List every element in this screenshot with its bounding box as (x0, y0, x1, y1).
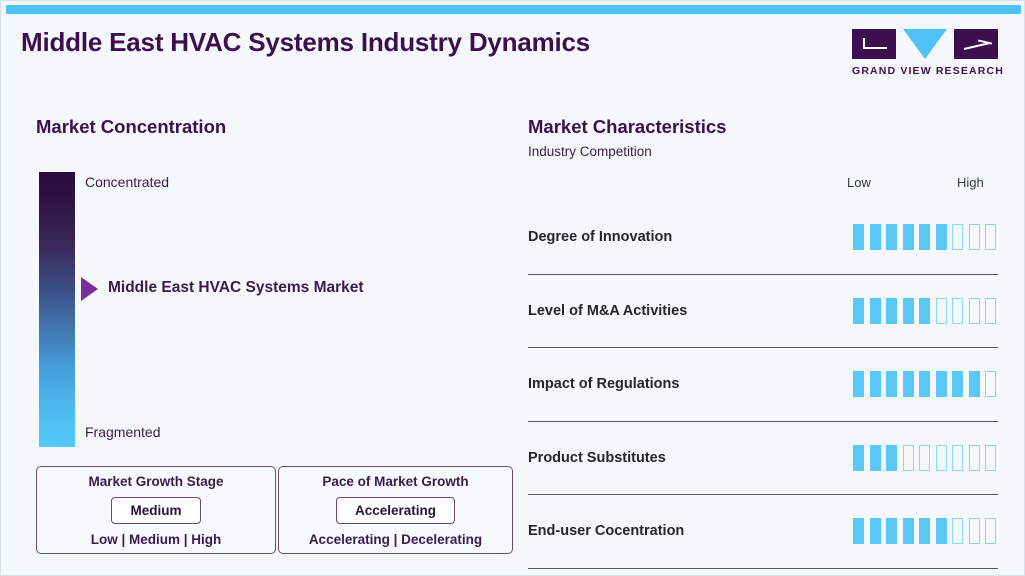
rating-bar-empty (952, 445, 963, 471)
concentration-bottom-label: Fragmented (85, 424, 160, 440)
rating-bar-filled (886, 371, 897, 397)
rating-bar-empty (919, 445, 930, 471)
scale-label-low: Low (847, 175, 871, 190)
characteristic-row: Degree of Innovation (528, 201, 998, 275)
rating-bar-empty (936, 298, 947, 324)
logo-g-icon (852, 29, 896, 59)
pace-of-market-growth-card: Pace of Market Growth Accelerating Accel… (278, 466, 513, 554)
characteristic-rating-bars (853, 298, 996, 324)
rating-bar-filled (853, 518, 864, 544)
logo-wordmark: GRAND VIEW RESEARCH (852, 65, 998, 77)
rating-bar-filled (886, 224, 897, 250)
rating-bar-empty (952, 224, 963, 250)
scale-label-high: High (957, 175, 984, 190)
pace-heading: Pace of Market Growth (322, 474, 468, 489)
characteristic-row: Product Substitutes (528, 422, 998, 496)
rating-bar-filled (886, 518, 897, 544)
characteristic-label: End-user Cocentration (528, 523, 684, 539)
rating-bar-filled (886, 298, 897, 324)
characteristic-row: Level of M&A Activities (528, 275, 998, 349)
characteristic-rating-bars (853, 518, 996, 544)
growth-stage-options: Low | Medium | High (91, 532, 222, 547)
growth-stage-value: Medium (111, 497, 200, 524)
rating-bar-filled (919, 224, 930, 250)
rating-bar-empty (985, 224, 996, 250)
top-accent-bar (6, 5, 1021, 14)
logo-r-icon (954, 29, 998, 59)
rating-bar-filled (903, 518, 914, 544)
characteristic-label: Level of M&A Activities (528, 303, 687, 319)
rating-bar-filled (870, 371, 881, 397)
logo-v-triangle-icon (903, 29, 947, 59)
characteristics-list: Degree of InnovationLevel of M&A Activit… (528, 201, 998, 569)
rating-bar-empty (985, 518, 996, 544)
rating-bar-filled (870, 298, 881, 324)
rating-bar-empty (969, 224, 980, 250)
market-growth-stage-card: Market Growth Stage Medium Low | Medium … (36, 466, 276, 554)
pace-options: Accelerating | Decelerating (309, 532, 482, 547)
rating-bar-filled (903, 371, 914, 397)
market-characteristics-subtitle: Industry Competition (528, 144, 652, 159)
rating-bar-empty (985, 298, 996, 324)
concentration-top-label: Concentrated (85, 174, 169, 190)
characteristic-row: End-user Cocentration (528, 495, 998, 569)
rating-bar-filled (903, 224, 914, 250)
characteristic-rating-bars (853, 224, 996, 250)
rating-bar-empty (952, 518, 963, 544)
rating-bar-filled (936, 224, 947, 250)
rating-bar-filled (936, 371, 947, 397)
rating-bar-empty (969, 445, 980, 471)
pace-value: Accelerating (336, 497, 455, 524)
rating-bar-filled (870, 224, 881, 250)
rating-bar-filled (919, 298, 930, 324)
rating-bar-filled (853, 371, 864, 397)
rating-bar-empty (969, 298, 980, 324)
rating-bar-empty (969, 518, 980, 544)
grand-view-research-logo: GRAND VIEW RESEARCH (852, 29, 998, 77)
rating-bar-empty (985, 371, 996, 397)
characteristic-label: Impact of Regulations (528, 376, 679, 392)
rating-bar-filled (886, 445, 897, 471)
market-position-label: Middle East HVAC Systems Market (108, 279, 364, 297)
rating-bar-filled (870, 518, 881, 544)
characteristic-row: Impact of Regulations (528, 348, 998, 422)
page-title: Middle East HVAC Systems Industry Dynami… (21, 27, 590, 58)
logo-marks (852, 29, 998, 59)
rating-bar-filled (936, 518, 947, 544)
concentration-gradient-bar (39, 172, 75, 447)
rating-bar-filled (870, 445, 881, 471)
characteristic-label: Degree of Innovation (528, 229, 672, 245)
rating-bar-filled (969, 371, 980, 397)
rating-bar-empty (952, 298, 963, 324)
growth-stage-heading: Market Growth Stage (88, 474, 223, 489)
rating-bar-filled (903, 298, 914, 324)
characteristic-rating-bars (853, 445, 996, 471)
rating-bar-filled (853, 298, 864, 324)
rating-bar-empty (903, 445, 914, 471)
rating-bar-filled (853, 224, 864, 250)
rating-bar-filled (919, 518, 930, 544)
rating-bar-empty (936, 445, 947, 471)
market-concentration-title: Market Concentration (36, 116, 226, 138)
rating-bar-filled (952, 371, 963, 397)
rating-bar-empty (985, 445, 996, 471)
infographic-page: Middle East HVAC Systems Industry Dynami… (0, 0, 1025, 576)
characteristic-label: Product Substitutes (528, 450, 666, 466)
characteristic-rating-bars (853, 371, 996, 397)
rating-bar-filled (853, 445, 864, 471)
market-position-arrow-icon (81, 277, 98, 301)
market-characteristics-title: Market Characteristics (528, 116, 726, 138)
rating-bar-filled (919, 371, 930, 397)
